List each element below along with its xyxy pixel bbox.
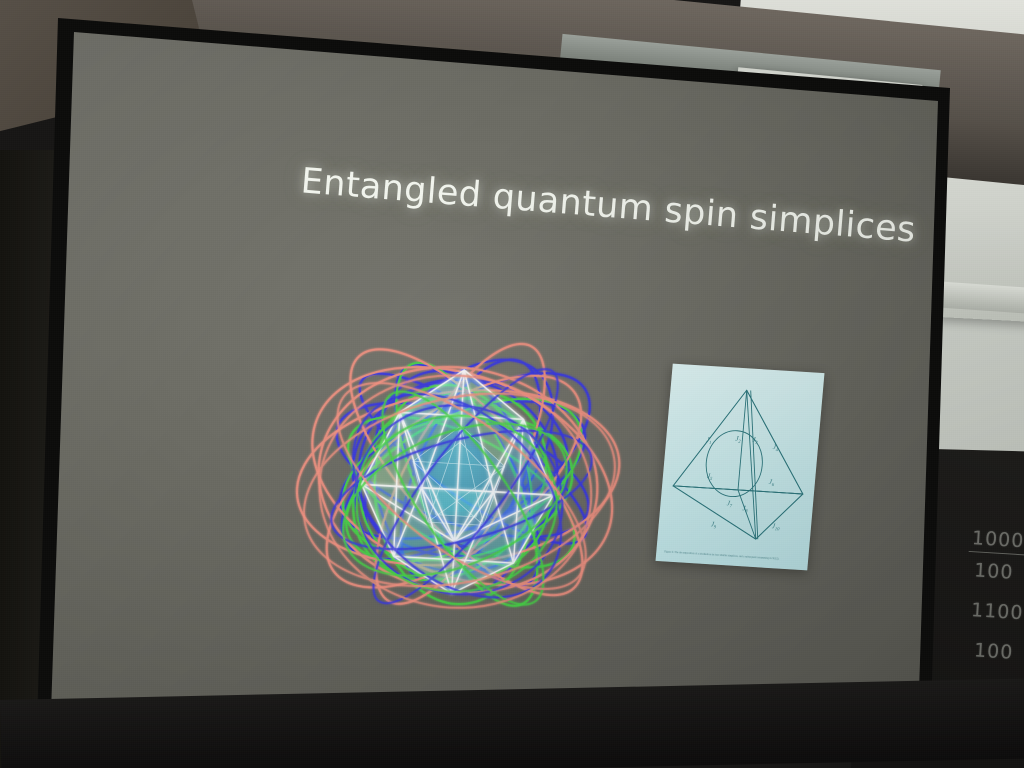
- svg-text:J10: J10: [772, 522, 781, 531]
- lecture-room-photo: 1000 100 1100 100 Entangled quantum spin…: [0, 0, 1024, 768]
- svg-text:J8: J8: [742, 504, 749, 513]
- svg-text:J9: J9: [710, 520, 717, 529]
- entangled-spin-simplex-graphic: [252, 289, 671, 671]
- svg-text:J2: J2: [735, 435, 742, 444]
- tetrahedron-decomposition-figure: J1 J2 J3 J4 J5 J6 J7 J8 J9 J10 Figure 4:…: [656, 364, 825, 571]
- projection-screen: Entangled quantum spin simplices: [0, 0, 1024, 768]
- slide-surface: Entangled quantum spin simplices: [0, 0, 1024, 768]
- svg-text:J6: J6: [768, 478, 775, 487]
- svg-text:J7: J7: [726, 499, 733, 508]
- svg-text:J5: J5: [707, 472, 714, 481]
- slide-title: Entangled quantum spin simplices: [299, 161, 917, 250]
